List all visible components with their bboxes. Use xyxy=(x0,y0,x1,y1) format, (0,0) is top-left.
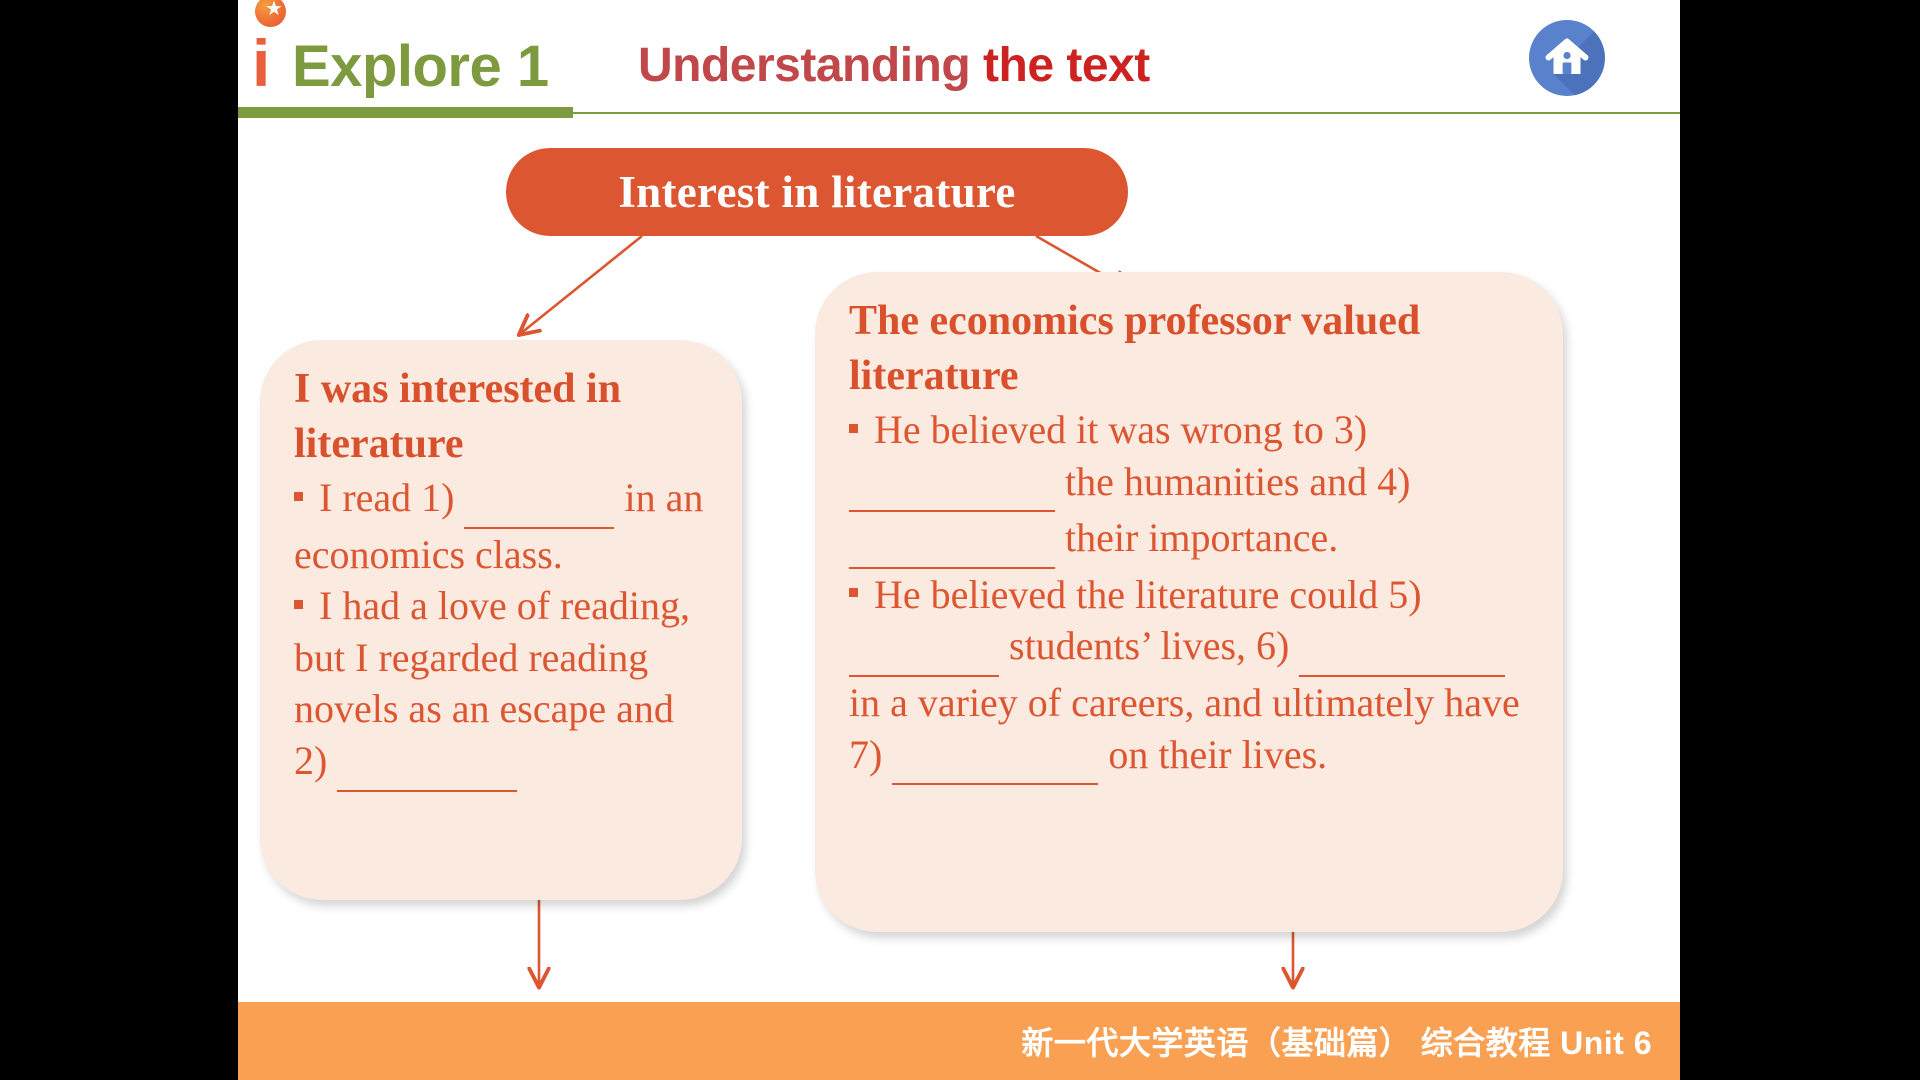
topic-pill: Interest in literature xyxy=(506,148,1128,236)
body-text: students’ lives, 6) xyxy=(999,623,1299,668)
fill-in-blank xyxy=(849,623,999,677)
bullet-icon xyxy=(294,600,303,609)
body-text: He believed the literature could 5) xyxy=(874,572,1422,617)
arrow-pill-to-left xyxy=(520,236,642,334)
home-button[interactable] xyxy=(1529,20,1605,96)
left-box-body: I read 1) in an economics class.I had a … xyxy=(294,472,712,792)
body-text: the humanities and 4) xyxy=(1055,459,1410,504)
left-box-inner: I was interested in literature I read 1)… xyxy=(260,340,742,792)
body-line: He believed the literature could 5) stud… xyxy=(849,569,1533,785)
brand-i-letter: i xyxy=(252,26,268,100)
slide-body: Interest in literature I was interested … xyxy=(238,118,1680,998)
body-text: their importance. xyxy=(1055,515,1338,560)
left-box-heading: I was interested in literature xyxy=(294,362,712,472)
body-line: I had a love of reading, but I regarded … xyxy=(294,580,712,791)
page-title: Understanding the text xyxy=(638,40,1150,92)
right-box-heading: The economics professor valued literatur… xyxy=(849,294,1533,404)
right-content-box: The economics professor valued literatur… xyxy=(815,272,1563,932)
bullet-icon xyxy=(849,424,858,433)
brand-i-logo: ★ i xyxy=(252,30,292,96)
footer-label: 新一代大学英语（基础篇） 综合教程 Unit 6 xyxy=(1021,1018,1652,1064)
star-icon: ★ xyxy=(265,0,285,19)
slide-footer: 新一代大学英语（基础篇） 综合教程 Unit 6 xyxy=(238,1002,1680,1080)
bullet-icon xyxy=(294,492,303,501)
topic-pill-label: Interest in literature xyxy=(618,166,1015,218)
left-content-box: I was interested in literature I read 1)… xyxy=(260,340,742,900)
fill-in-blank xyxy=(464,475,614,529)
screen: ★ i Explore 1 Understanding the text xyxy=(0,0,1920,1080)
home-icon xyxy=(1529,20,1605,96)
fill-in-blank xyxy=(1299,623,1505,677)
body-text: He believed it was wrong to 3) xyxy=(874,407,1367,452)
right-box-body: He believed it was wrong to 3) the human… xyxy=(849,404,1533,785)
page-title-part1: Understanding xyxy=(638,39,983,92)
fill-in-blank xyxy=(337,738,517,792)
body-text: I read 1) xyxy=(319,475,464,520)
body-line: He believed it was wrong to 3) the human… xyxy=(849,404,1533,569)
brand-iexplore: ★ i Explore 1 xyxy=(252,30,549,96)
page-title-part2: the text xyxy=(983,39,1150,92)
body-line: I read 1) in an economics class. xyxy=(294,472,712,580)
fill-in-blank xyxy=(892,732,1098,786)
fill-in-blank xyxy=(849,459,1055,513)
header-rule-accent xyxy=(238,107,573,118)
slide-canvas: ★ i Explore 1 Understanding the text xyxy=(238,0,1680,1080)
right-box-inner: The economics professor valued literatur… xyxy=(815,272,1563,785)
fill-in-blank xyxy=(849,515,1055,569)
brand-word: Explore 1 xyxy=(292,38,549,96)
slide-header: ★ i Explore 1 Understanding the text xyxy=(238,0,1680,118)
body-text: on their lives. xyxy=(1098,732,1327,777)
bullet-icon xyxy=(849,588,858,597)
